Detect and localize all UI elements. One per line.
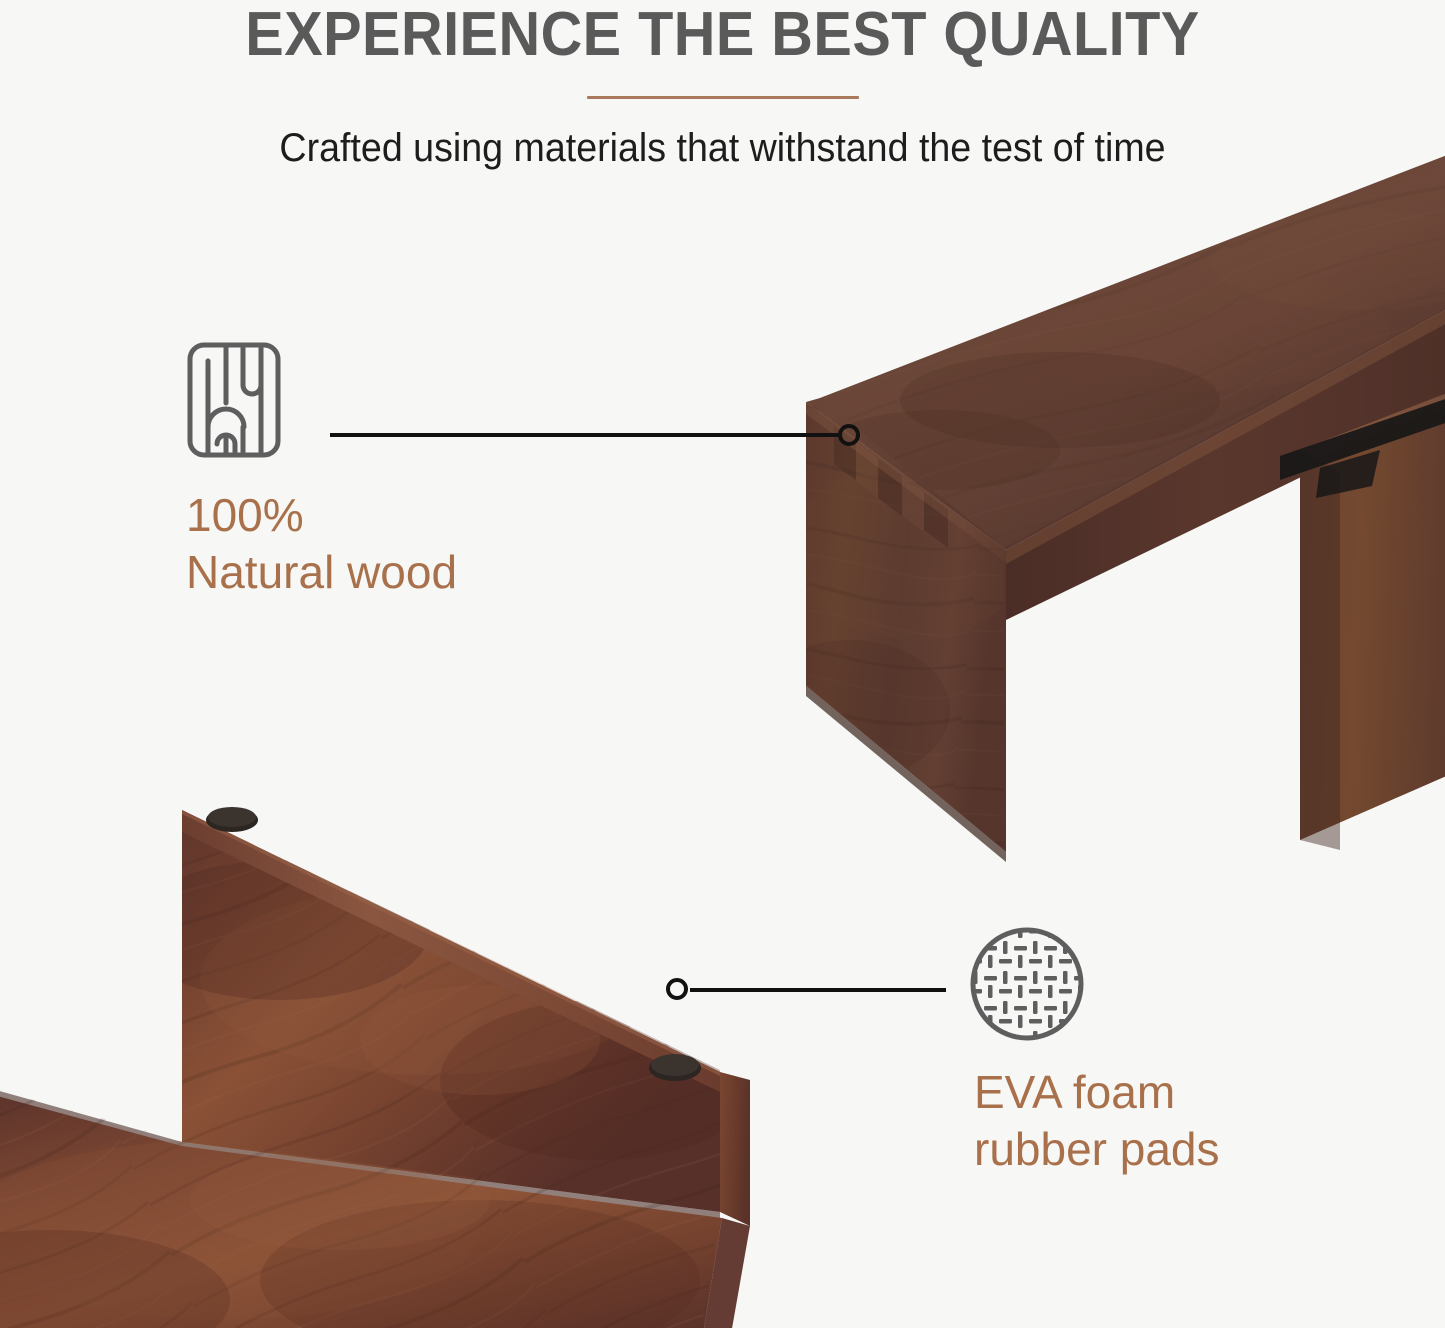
page-title: EXPERIENCE THE BEST QUALITY: [51, 0, 1395, 68]
header: EXPERIENCE THE BEST QUALITY Crafted usin…: [0, 0, 1445, 171]
leader-line-foam: [690, 988, 946, 992]
woven-foam-icon-svg: [968, 925, 1086, 1043]
foam-weave-fill: [968, 925, 1086, 1043]
monitor-stand-photo: [760, 150, 1445, 910]
leader-line-wood: [330, 433, 842, 437]
monitor-stand-illustration: [760, 150, 1445, 910]
leader-dot-wood: [838, 424, 860, 446]
woven-foam-icon: [968, 925, 1086, 1043]
l-shaped-riser-photo: [0, 780, 750, 1328]
riser-panel-right-cap: [720, 1072, 750, 1226]
callout-label-eva-foam: EVA foam rubber pads: [974, 1064, 1220, 1178]
wood-grain-icon-svg: [186, 341, 282, 459]
eva-foam-pad-left: [206, 807, 258, 832]
product-infographic: EXPERIENCE THE BEST QUALITY Crafted usin…: [0, 0, 1445, 1328]
eva-foam-pad-right: [649, 1054, 701, 1081]
riser-illustration: [0, 780, 750, 1328]
wood-grain-icon: [186, 341, 282, 459]
leader-dot-foam: [666, 978, 688, 1000]
callout-label-natural-wood: 100% Natural wood: [186, 487, 457, 601]
